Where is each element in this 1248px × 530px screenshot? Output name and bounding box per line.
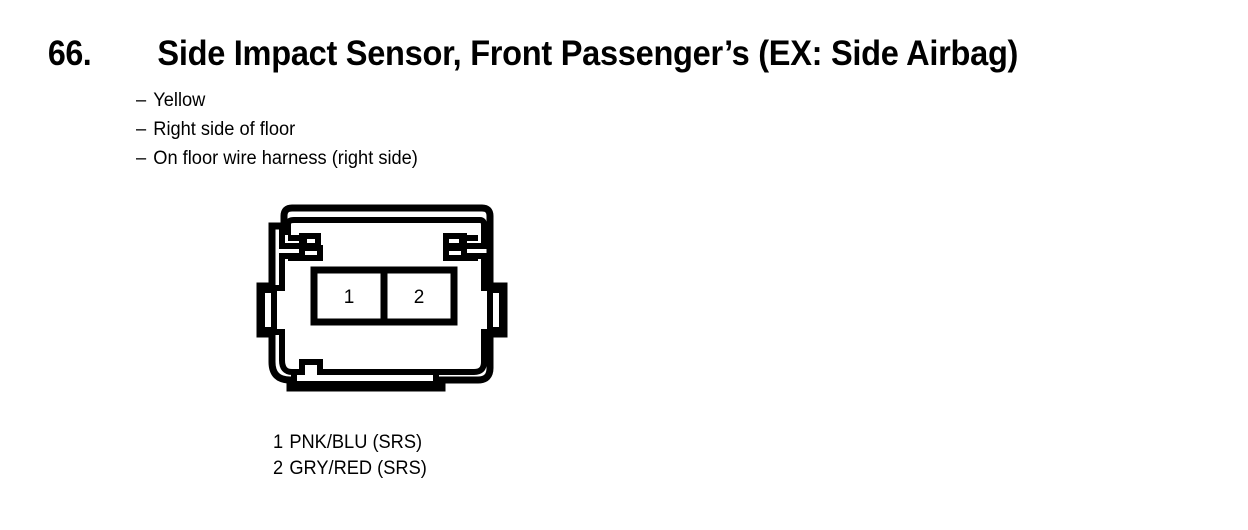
legend-row-number: 1	[273, 430, 289, 456]
pin-cavity-2-label: 2	[414, 287, 425, 308]
list-item: – Right side of floor	[136, 115, 418, 144]
legend-row-wire: PNK/BLU (SRS)	[289, 430, 422, 456]
connector-diagram: 1 2	[246, 198, 546, 404]
list-item: – On floor wire harness (right side)	[136, 144, 418, 173]
legend-row-wire: GRY/RED (SRS)	[289, 456, 427, 482]
legend-row: 1 PNK/BLU (SRS)	[273, 430, 427, 456]
pin-cavity-block: 1 2	[314, 270, 454, 322]
terminal-legend: 1 PNK/BLU (SRS) 2 GRY/RED (SRS)	[273, 430, 433, 482]
legend-row: 2 GRY/RED (SRS)	[273, 456, 427, 482]
dash-icon: –	[136, 144, 153, 173]
list-item-label: Right side of floor	[153, 115, 295, 144]
list-item-label: On floor wire harness (right side)	[153, 144, 418, 173]
connector-details-list: – Yellow – Right side of floor – On floo…	[136, 86, 430, 173]
list-item-label: Yellow	[153, 86, 205, 115]
item-number: 66.	[48, 34, 91, 74]
legend-row-number: 2	[273, 456, 289, 482]
dash-icon: –	[136, 115, 153, 144]
left-side-tab	[262, 290, 272, 330]
bottom-notch	[294, 374, 436, 384]
title-text: Side Impact Sensor, Front Passenger’s (E…	[158, 34, 1019, 74]
dash-icon: –	[136, 86, 153, 115]
list-item: – Yellow	[136, 86, 418, 115]
pin-cavity-1-label: 1	[344, 287, 355, 308]
page-title: 66. Side Impact Sensor, Front Passenger’…	[46, 34, 1051, 74]
